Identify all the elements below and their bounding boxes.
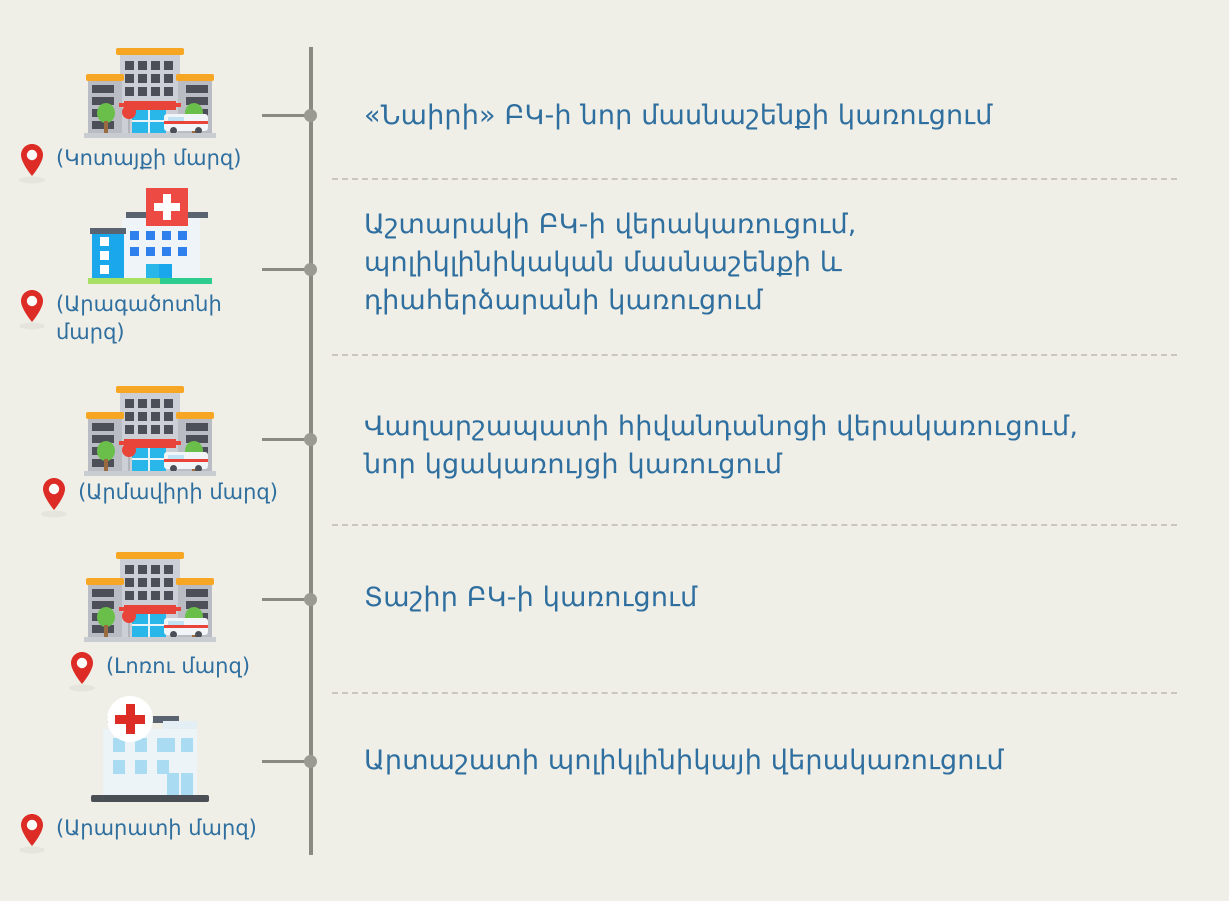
map-pin-icon (14, 286, 50, 330)
location-label: (Արմավիրի մարզ) (78, 474, 278, 506)
timeline-connector (262, 268, 310, 271)
hospital-building-icon (84, 386, 216, 476)
timeline-row-left: (Կոտայքի մարզ) (0, 40, 300, 180)
timeline-row-left: (Արարատի մարզ) (0, 694, 300, 860)
timeline-connector (262, 438, 310, 441)
timeline-row: (Կոտայքի մարզ) «Նաիրի» ԲԿ-ի նոր մասնաշեն… (0, 40, 1229, 180)
timeline-dot (304, 433, 317, 446)
map-pin-icon (36, 474, 72, 518)
timeline-connector (262, 114, 310, 117)
timeline-row-left: (Արմավիրի մարզ) (0, 356, 300, 524)
location-label: (Արագածոտնի մարզ) (56, 286, 222, 346)
project-description: Արտաշատի պոլիկլինիկայի վերակառուցում (364, 742, 1124, 780)
timeline-infographic: (Կոտայքի մարզ) «Նաիրի» ԲԿ-ի նոր մասնաշեն… (0, 0, 1229, 901)
clinic-red-cross-banner-icon (88, 192, 212, 284)
location-row: (Կոտայքի մարզ) (14, 140, 300, 184)
timeline-connector (262, 598, 310, 601)
row-separator (332, 178, 1177, 180)
timeline-connector (262, 760, 310, 763)
location-label: (Լոռու մարզ) (106, 648, 250, 680)
project-description: Տաշիր ԲԿ-ի կառուցում (364, 579, 964, 617)
timeline-dot (304, 263, 317, 276)
timeline-dot (304, 755, 317, 768)
timeline-row: (Արարատի մարզ) Արտաշատի պոլիկլինիկայի վե… (0, 694, 1229, 860)
hospital-building-icon (84, 552, 216, 642)
hospital-building-icon (84, 48, 216, 138)
timeline-row-left: (Լոռու մարզ) (0, 526, 300, 692)
map-pin-icon (14, 810, 50, 854)
timeline-dot (304, 109, 317, 122)
project-description: Աշտարակի ԲԿ-ի վերակառուցում, պոլիկլինիկա… (364, 206, 1024, 320)
location-row: (Արագածոտնի մարզ) (14, 286, 300, 346)
map-pin-icon (64, 648, 100, 692)
clinic-cross-badge-icon (91, 710, 209, 802)
timeline-row: (Լոռու մարզ) Տաշիր ԲԿ-ի կառուցում (0, 526, 1229, 692)
location-row: (Լոռու մարզ) (14, 648, 300, 692)
location-label: (Արարատի մարզ) (56, 810, 257, 842)
project-description: Վաղարշապատի հիվանդանոցի վերակառուցում, ն… (364, 408, 1194, 484)
timeline-dot (304, 593, 317, 606)
map-pin-icon (14, 140, 50, 184)
location-row: (Արարատի մարզ) (14, 810, 300, 854)
project-description: «Նաիրի» ԲԿ-ի նոր մասնաշենքի կառուցում (364, 97, 1144, 135)
timeline-row-left: (Արագածոտնի մարզ) (0, 182, 300, 354)
location-label: (Կոտայքի մարզ) (56, 140, 241, 172)
location-row: (Արմավիրի մարզ) (14, 474, 300, 518)
timeline-row: (Արագածոտնի մարզ) Աշտարակի ԲԿ-ի վերակառո… (0, 182, 1229, 354)
timeline-row: (Արմավիրի մարզ) Վաղարշապատի հիվանդանոցի … (0, 356, 1229, 524)
